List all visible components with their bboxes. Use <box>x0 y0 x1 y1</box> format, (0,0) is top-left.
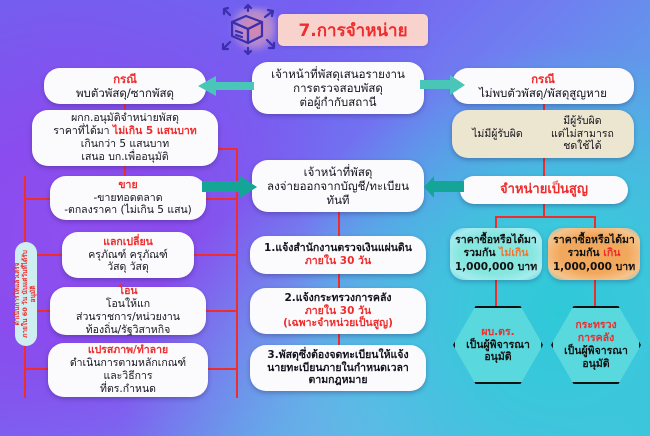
node-line-1: พบตัวพัสดุ/ซากพัสดุ <box>76 86 174 100</box>
side-note-deadline: ดำเนินการให้แล้วเสร็จ ภายใน 60 วัน นับแต… <box>15 242 37 346</box>
node-price-over-threshold[interactable]: ราคาซื้อหรือได้มา รวมกัน เกิน 1,000,000 … <box>548 228 640 280</box>
arrow-right-thick-icon <box>202 176 258 198</box>
arrow-left-icon <box>196 74 256 98</box>
node-title: จำหน่ายเป็นสูญ <box>500 182 588 198</box>
node-line-2: อนุมัติ <box>466 351 530 364</box>
node-title: กรณี <box>113 72 137 86</box>
connector <box>206 310 236 312</box>
arrow-left-thick-icon <box>424 176 464 198</box>
node-line-1: โอนให้แก <box>106 298 150 311</box>
node-line-2: ภายใน 30 วัน <box>305 255 371 268</box>
node-line-1: เป็นผู้พิจารณา <box>466 339 530 352</box>
node-line-2: แต่ไม่สามารถ <box>551 128 614 141</box>
node-line-2: นายทะเบียนภายในกำหนดเวลา <box>267 362 409 375</box>
node-writeoff-as-loss[interactable]: จำหน่ายเป็นสูญ <box>460 176 628 204</box>
node-line-1: ดำเนินการตามหลักเกณฑ์ <box>70 357 186 370</box>
connector <box>206 198 236 200</box>
node-title-line-2: การคลัง <box>564 332 628 345</box>
node-title: แลกเปลี่ยน <box>103 236 153 249</box>
node-liability-unable: มีผู้รับผิด แต่ไม่สามารถ ชดใช้ได้ <box>551 115 614 153</box>
node-line-1: ราคาซื้อหรือได้มา <box>553 234 635 247</box>
connector <box>495 216 595 218</box>
node-title: กรณี <box>531 72 555 86</box>
page-title: 7.การจำหน่าย <box>278 14 428 46</box>
connector <box>338 212 340 238</box>
connector <box>495 280 497 306</box>
node-step-3[interactable]: 3.พัสดุซึ่งต้องจดทะเบียนให้แจ้ง นายทะเบี… <box>250 345 426 391</box>
node-line-1: ราคาซื้อหรือได้มา <box>455 234 537 247</box>
node-method-destroy[interactable]: แปรสภาพ/ทำลาย ดำเนินการตามหลักเกณฑ์ และว… <box>48 343 208 397</box>
side-note-line-2: ภายใน 60 วัน นับแต่วันที่ได้รับอนุมัติ <box>22 242 38 346</box>
node-line-3: 1,000,000 บาท <box>455 261 537 274</box>
node-officer-writeoff[interactable]: เจ้าหน้าที่พัสดุ ลงจ่ายออกจากบัญชี/ทะเบี… <box>252 160 424 212</box>
node-line-2-highlight: ไม่เกิน 5 แสนบาท <box>113 125 197 137</box>
node-line-2-prefix: รวมกัน <box>464 247 500 259</box>
node-line-2: รวมกัน เกิน <box>568 247 621 260</box>
node-case-not-found[interactable]: กรณี ไม่พบตัวพัสดุ/พัสดุสูญหาย <box>452 68 634 104</box>
connector <box>543 204 545 216</box>
node-line-3: (เฉพาะจำหน่วยเป็นสูญ) <box>283 317 393 330</box>
node-line-1: ไม่พบตัวพัสดุ/พัสดุสูญหาย <box>479 86 607 100</box>
node-line-1: เป็นผู้พิจารณา <box>564 345 628 358</box>
package-box-icon <box>218 4 280 56</box>
connector <box>24 368 50 370</box>
node-line-2: ลงจ่ายออกจากบัญชี/ทะเบียน <box>267 179 409 193</box>
node-liability-none: ไม่มีผู้รับผิด <box>472 128 523 141</box>
connector <box>208 368 236 370</box>
arrow-right-icon <box>420 74 466 96</box>
connector <box>218 148 238 150</box>
node-title-line-1: กระทรวง <box>564 319 628 332</box>
node-line-2-highlight: ไม่เกิน <box>499 247 528 259</box>
node-line-4: เสนอ บก.เพื่ออนุมัติ <box>81 151 168 164</box>
node-line-2: ภายใน 30 วัน <box>305 305 371 318</box>
node-line-1: มีผู้รับผิด <box>551 115 614 128</box>
node-line-1: ผกก.อนุมัติจำหน่ายพัสดุ <box>71 112 179 125</box>
node-line-2: การตรวจสอบพัสดุ <box>293 81 383 95</box>
node-title: โอน <box>118 285 137 298</box>
node-line-3: ชดใช้ได้ <box>551 140 614 153</box>
node-line-2: รวมกัน ไม่เกิน <box>464 247 529 260</box>
connector <box>543 158 545 176</box>
node-line-2: และวิธีการ <box>103 370 152 383</box>
connector <box>124 166 126 176</box>
node-price-under-threshold[interactable]: ราคาซื้อหรือได้มา รวมกัน ไม่เกิน 1,000,0… <box>450 228 542 280</box>
node-line-1: 2.แจ้งกระทรวงการคลัง <box>284 292 391 305</box>
node-title: แปรสภาพ/ทำลาย <box>88 344 168 357</box>
node-line-3: เกินกว่า 5 แสนบาท <box>81 138 169 151</box>
node-line-3: ต่อผู้กำกับสถานี <box>299 95 376 109</box>
node-line-1: 3.พัสดุซึ่งต้องจดทะเบียนให้แจ้ง <box>267 349 408 362</box>
node-line-2: -ตกลงราคา (ไม่เกิน 5 แสน) <box>64 204 192 217</box>
node-approval[interactable]: ผกก.อนุมัติจำหน่ายพัสดุ ราคาที่ได้มา ไม่… <box>32 110 218 166</box>
node-line-2: วัสดุ วัสดุ <box>107 261 149 274</box>
flowchart-canvas: 7.การจำหน่าย กรณี พบตัวพัสดุ/ซากพัสดุ ผ <box>0 0 650 436</box>
connector <box>594 280 596 306</box>
node-step-2[interactable]: 2.แจ้งกระทรวงการคลัง ภายใน 30 วัน (เฉพาะ… <box>250 288 426 334</box>
node-line-3: ทันที <box>326 193 349 207</box>
node-line-2-highlight: เกิน <box>603 247 620 259</box>
node-method-transfer[interactable]: โอน โอนให้แก ส่วนราชการ/หน่วยงาน ท้องถิ่… <box>50 287 206 335</box>
node-report-to-commander[interactable]: เจ้าหน้าที่พัสดุเสนอรายงาน การตรวจสอบพัส… <box>252 62 424 114</box>
node-line-1: เจ้าหน้าที่พัสดุ <box>304 165 373 179</box>
node-line-2: ราคาที่ได้มา ไม่เกิน 5 แสนบาท <box>53 125 196 138</box>
node-line-1: เจ้าหน้าที่พัสดุเสนอรายงาน <box>271 67 405 81</box>
node-line-1: 1.แจ้งสำนักงานตรวจเงินแผ่นดิน <box>264 242 412 255</box>
node-method-exchange[interactable]: แลกเปลี่ยน ครุภัณฑ์ ครุภัณฑ์ วัสดุ วัสดุ <box>62 232 194 278</box>
node-authority-police-commissioner[interactable]: ผบ.ตร. เป็นผู้พิจารณา อนุมัติ <box>453 306 543 384</box>
node-line-3: ท้องถิ่น/รัฐวิสาหกิจ <box>86 324 171 337</box>
node-line-1: -ขายทอดตลาด <box>93 192 162 205</box>
node-line-2: อนุมัติ <box>564 358 628 371</box>
connector <box>594 216 596 228</box>
node-line-3: 1,000,000 บาท <box>553 261 635 274</box>
node-line-2: ส่วนราชการ/หน่วยงาน <box>76 311 180 324</box>
node-line-1: ครุภัณฑ์ ครุภัณฑ์ <box>88 249 167 262</box>
node-line-2-prefix: ราคาที่ได้มา <box>53 125 113 137</box>
node-title: ขาย <box>118 179 137 192</box>
connector <box>495 216 497 228</box>
node-line-3: ตามกฎหมาย <box>309 374 368 387</box>
node-title: ผบ.ตร. <box>466 326 530 339</box>
node-line-3: ที่ตร.กำหนด <box>100 383 156 396</box>
node-step-1[interactable]: 1.แจ้งสำนักงานตรวจเงินแผ่นดิน ภายใน 30 ว… <box>250 236 426 274</box>
node-authority-ministry-finance[interactable]: กระทรวง การคลัง เป็นผู้พิจารณา อนุมัติ <box>551 306 641 384</box>
connector <box>194 254 236 256</box>
node-case-found[interactable]: กรณี พบตัวพัสดุ/ซากพัสดุ <box>44 68 206 104</box>
node-method-sell[interactable]: ขาย -ขายทอดตลาด -ตกลงราคา (ไม่เกิน 5 แสน… <box>50 176 206 220</box>
node-line-2-prefix: รวมกัน <box>568 247 604 259</box>
node-liability[interactable]: ไม่มีผู้รับผิด มีผู้รับผิด แต่ไม่สามารถ … <box>452 110 634 158</box>
